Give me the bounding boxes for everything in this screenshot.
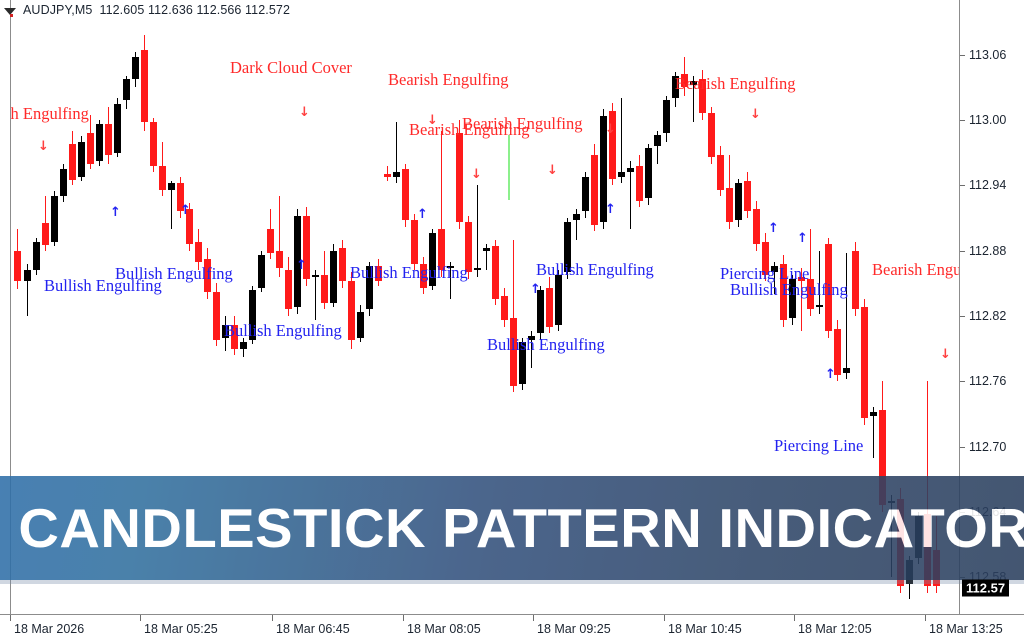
price-tick [960,447,965,448]
candle-body-bearish [636,166,643,201]
bearish-arrow-icon: ↓ [299,106,310,119]
bearish-arrow-icon: ↓ [940,348,951,361]
bearish-arrow-icon: ↓ [471,168,482,181]
candle-body-bullish [330,251,337,303]
time-tick [10,615,11,621]
candle-body-bullish [555,275,562,325]
bearish-arrow-icon: ↓ [605,123,616,136]
price-tick [960,251,965,252]
candle-wick [477,185,478,276]
pattern-label-bullish: Bullish Engulfing [487,337,605,354]
time-tick [140,615,141,621]
pattern-label-bullish: Bullish Engulfing [536,262,654,279]
candle-wick [315,270,316,320]
candle-body-bearish [267,229,274,253]
candle-body-bullish [24,270,31,281]
price-tick [960,120,965,121]
bullish-arrow-icon: ↑ [417,208,428,221]
candle-wick [621,98,622,183]
time-tick-label: 18 Mar 2026 [14,622,84,636]
price-tick [960,381,965,382]
price-tick-label: 112.82 [969,309,1006,323]
pattern-label-bearish: Bearish Engulfing [675,76,796,93]
candle-body-bullish [816,305,823,307]
candle-body-bearish [501,296,508,320]
current-price-tag: 112.57 [962,580,1009,597]
candle-body-bearish [213,292,220,340]
candle-body-bearish [69,144,76,180]
candle-body-bullish [123,79,130,101]
candle-body-bearish [150,122,157,166]
candle-body-bullish [735,183,742,220]
candle-body-bearish [159,166,166,190]
candle-body-bullish [654,135,661,146]
candle-body-bullish [168,183,175,190]
time-tick [664,615,665,621]
time-tick [794,615,795,621]
candle-body-bullish [843,368,850,372]
pattern-label-bullish: Bullish Engulfing [350,265,468,282]
candle-body-bullish [663,100,670,133]
time-tick [533,615,534,621]
pattern-label-bullish: Bullish Engulfing [44,278,162,295]
bullish-arrow-icon: ↑ [180,204,191,217]
candle-body-bullish [582,177,589,212]
time-tick-label: 18 Mar 09:25 [537,622,611,636]
candle-body-bearish [591,155,598,225]
candle-body-bearish [42,223,49,245]
candle-body-bullish [393,172,400,176]
price-tick-label: 112.94 [969,178,1006,192]
period-separator-line [508,135,510,200]
candle-body-bullish [357,312,364,338]
candle-body-bullish [645,148,652,198]
bullish-arrow-icon: ↑ [825,368,836,381]
candle-body-bearish [87,133,94,163]
time-tick [272,615,273,621]
price-tick [960,316,965,317]
pattern-label-bullish: Piercing Line [774,438,863,455]
price-tick-label: 112.76 [969,374,1006,388]
price-tick-label: 112.88 [969,244,1006,258]
candle-body-bullish [114,104,121,153]
chart-header: AUDJPY,M5 112.605 112.636 112.566 112.57… [0,0,290,20]
bullish-arrow-icon: ↑ [530,283,541,296]
price-tick [960,185,965,186]
bullish-arrow-icon: ↑ [605,203,616,216]
banner-shadow [0,580,1024,584]
candle-body-bearish [492,246,499,298]
chart-origin-marker [10,14,13,17]
candle-body-bullish [312,275,319,277]
candle-body-bullish [618,172,625,176]
candle-body-bullish [132,57,139,79]
time-tick-label: 18 Mar 08:05 [407,622,481,636]
candle-body-bullish [60,169,67,196]
candle-body-bearish [276,251,283,268]
candle-body-bearish [285,270,292,309]
pattern-label-bearish: Dark Cloud Cover [230,60,352,77]
price-tick-label: 112.70 [969,440,1006,454]
price-tick-label: 113.00 [969,113,1006,127]
bearish-arrow-icon: ↓ [750,108,761,121]
candle-body-bullish [33,242,40,270]
candle-body-bullish [240,342,247,349]
candle-body-bullish [51,196,58,242]
time-axis[interactable]: 18 Mar 202618 Mar 05:2518 Mar 06:4518 Ma… [0,615,1024,640]
symbol-timeframe-label: AUDJPY,M5 [23,3,92,17]
price-tick-label: 113.06 [969,48,1006,62]
candle-body-bearish [753,209,760,244]
candle-body-bullish [474,268,481,270]
candle-body-bullish [627,168,634,172]
promo-banner-text: CANDLESTICK PATTERN INDICATOR [0,496,1024,560]
bullish-arrow-icon: ↑ [296,259,307,272]
pattern-label-bearish: Bearish Engulfing [388,72,509,89]
pattern-label-bearish: rish Engulfing [10,106,89,123]
candlestick-chart-screenshot: AUDJPY,M5 112.605 112.636 112.566 112.57… [0,0,1024,640]
ohlc-values-label: 112.605 112.636 112.566 112.572 [99,3,290,17]
time-tick-label: 18 Mar 13:25 [929,622,1003,636]
candle-body-bearish [402,169,409,220]
time-tick-label: 18 Mar 06:45 [276,622,350,636]
promo-banner: CANDLESTICK PATTERN INDICATOR [0,476,1024,580]
candle-body-bearish [141,50,148,122]
pattern-label-bullish: Bullish Engulfing [730,282,848,299]
candle-body-bearish [852,251,859,310]
time-tick [925,615,926,621]
bullish-arrow-icon: ↑ [797,232,808,245]
candle-body-bearish [861,307,868,418]
candle-body-bearish [195,242,202,262]
candle-body-bullish [78,142,85,177]
candle-body-bullish [483,248,490,250]
bearish-arrow-icon: ↓ [38,140,49,153]
time-tick-label: 18 Mar 05:25 [144,622,218,636]
pattern-label-bearish: Bearish Engulfing [462,116,583,133]
candle-body-bullish [573,214,580,221]
candle-body-bearish [321,275,328,303]
time-tick-label: 18 Mar 10:45 [668,622,742,636]
candle-body-bullish [258,255,265,288]
pattern-label-bullish: Bullish Engulfing [224,323,342,340]
candle-body-bearish [744,181,751,211]
candle-body-bearish [726,188,733,223]
candle-body-bullish [96,124,103,161]
candle-body-bearish [546,288,553,327]
candle-body-bearish [384,174,391,176]
pattern-label-bearish: Bearish Engu [872,262,959,279]
candle-wick [846,253,847,379]
candle-body-bearish [708,113,715,157]
candle-body-bearish [717,155,724,190]
candle-body-bearish [456,133,463,222]
candle-wick [387,166,388,181]
bullish-arrow-icon: ↑ [768,222,779,235]
bearish-arrow-icon: ↓ [547,164,558,177]
price-tick [960,55,965,56]
candle-body-bearish [411,220,418,264]
candle-body-bullish [870,412,877,416]
candle-body-bearish [348,281,355,340]
candle-body-bearish [339,248,346,281]
candle-body-bearish [105,124,112,154]
candle-body-bearish [14,251,21,281]
time-tick [403,615,404,621]
time-tick-label: 18 Mar 12:05 [798,622,872,636]
bullish-arrow-icon: ↑ [110,206,121,219]
